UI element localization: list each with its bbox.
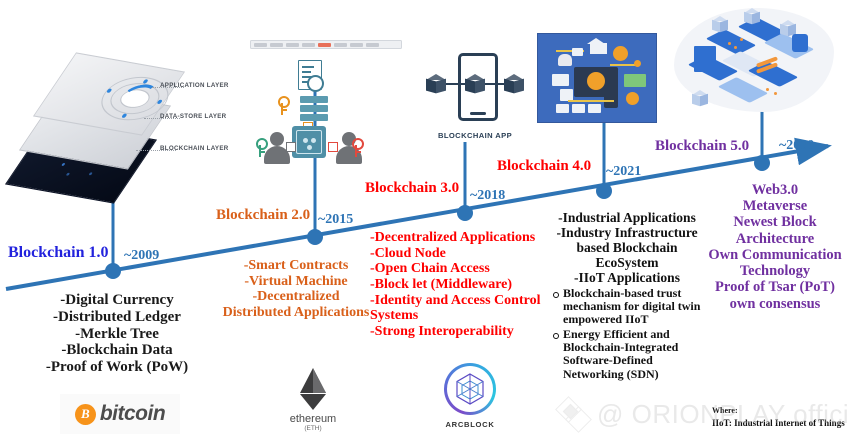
era-bullets-blockchain-2: -Smart Contracts -Virtual Machine -Decen… (222, 258, 370, 321)
list-item: -Decentralized Applications (370, 230, 546, 246)
server-icon (300, 96, 328, 122)
bitcoin-coin-icon: B (75, 404, 96, 425)
vault-icon (292, 126, 326, 158)
list-item: -IIoT Applications (549, 270, 705, 285)
era-title-blockchain-4: Blockchain 4.0 (497, 158, 591, 175)
era4-sub-bullets: Blockchain-based trust mechanism for dig… (549, 287, 705, 381)
timeline-node-2015 (307, 229, 323, 245)
timeline-node-2009 (105, 263, 121, 279)
browser-toolbar-icon (250, 40, 402, 49)
list-item: -Digital Currency (22, 292, 212, 309)
gear-icon (307, 75, 324, 92)
diagram-canvas: APPLICATION LAYER DATA-STORE LAYER BLOCK… (0, 0, 850, 441)
caption-blockchain-layer: BLOCKCHAIN LAYER (160, 145, 229, 152)
bitcoin-logo: B bitcoin (60, 394, 180, 434)
era-title-blockchain-3: Blockchain 3.0 (365, 180, 459, 197)
ethereum-logo: ethereum (ETH) (258, 368, 368, 436)
list-item: -Block let (Middleware) (370, 277, 546, 293)
list-item: -Strong Interoperability (370, 324, 546, 340)
link-square-left (286, 142, 296, 152)
timeline-node-2018 (457, 205, 473, 221)
layered-architecture-illustration: APPLICATION LAYER DATA-STORE LAYER BLOCK… (10, 58, 225, 178)
list-item: Energy Efficient and Blockchain-Integrat… (563, 328, 705, 381)
list-item: Proof of Tsar (PoT) (700, 279, 850, 295)
era-title-blockchain-2: Blockchain 2.0 (216, 207, 310, 224)
list-item: -Smart Contracts (222, 258, 370, 274)
era-year-2018: ~2018 (470, 188, 505, 204)
legend-note: Where: IIoT: Industrial Internet of Thin… (712, 406, 845, 429)
arcblock-ring-icon (444, 363, 496, 415)
era-year-2015: ~2015 (318, 212, 353, 228)
era-bullets-blockchain-1: -Digital Currency -Distributed Ledger -M… (22, 292, 212, 376)
era-bullets-blockchain-4: -Industrial Applications -Industry Infra… (549, 210, 705, 383)
list-item: -Open Chain Access (370, 261, 546, 277)
arcblock-hex-glyph (454, 372, 486, 406)
web3-isometric-illustration (668, 2, 840, 122)
caption-data-store-layer: DATA-STORE LAYER (160, 113, 226, 120)
list-item: -Decentralized Distributed Applications (222, 289, 370, 320)
diamond-logo-icon (556, 397, 590, 431)
list-item: own consensus (700, 296, 850, 312)
timeline-node-2021 (596, 183, 612, 199)
era-title-blockchain-1: Blockchain 1.0 (8, 244, 108, 262)
list-item: -Distributed Ledger (22, 309, 212, 326)
list-item: -Merkle Tree (22, 326, 212, 343)
list-item: -Cloud Node (370, 246, 546, 262)
ethereum-diamond-icon (300, 368, 326, 410)
block-cube-right (504, 74, 524, 94)
ethereum-wordmark: ethereum (258, 413, 368, 425)
era-title-blockchain-5: Blockchain 5.0 (655, 138, 749, 155)
list-item: -Industry Infrastructure based Blockchai… (549, 225, 705, 270)
block-cube-left (426, 74, 446, 94)
list-item: Web3.0 (700, 182, 850, 198)
list-item: -Industrial Applications (549, 210, 705, 225)
blockchain-app-caption: BLOCKCHAIN APP (420, 131, 530, 140)
blockchain-app-illustration: BLOCKCHAIN APP (420, 45, 530, 155)
list-item: -Virtual Machine (222, 274, 370, 290)
era-year-2030: ~2030 (779, 138, 814, 154)
list-item: -Proof of Work (PoW) (22, 359, 212, 376)
link-square-right (328, 142, 338, 152)
contract-document-icon (294, 60, 324, 92)
list-item: -Blockchain Data (22, 342, 212, 359)
list-item: Newest Block Architecture (700, 214, 850, 246)
timeline-node-2030 (754, 155, 770, 171)
arcblock-wordmark: ARCBLOCK (415, 420, 525, 429)
arcblock-logo: ARCBLOCK (415, 363, 525, 437)
legend-note-heading: Where: (712, 406, 845, 417)
smart-contract-illustration (248, 40, 366, 170)
list-item: Blockchain-based trust mechanism for dig… (563, 287, 705, 327)
list-item: -Identity and Access Control Systems (370, 293, 546, 324)
ethereum-ticker: (ETH) (258, 425, 368, 432)
bitcoin-wordmark: bitcoin (100, 402, 165, 426)
industrial-blockchain-illustration (537, 33, 657, 123)
era-bullets-blockchain-5: Web3.0 Metaverse Newest Block Architectu… (700, 182, 850, 312)
list-item: Own Communication Technology (700, 247, 850, 279)
list-item: Metaverse (700, 198, 850, 214)
key-icon-red (352, 138, 364, 150)
era-bullets-blockchain-3: -Decentralized Applications -Cloud Node … (370, 230, 546, 340)
era-year-2009: ~2009 (124, 248, 159, 264)
key-icon-green (256, 138, 268, 150)
era-year-2021: ~2021 (606, 164, 641, 180)
legend-note-text: IIoT: Industrial Internet of Things (712, 417, 845, 429)
block-cube-center (465, 74, 485, 94)
caption-application-layer: APPLICATION LAYER (160, 82, 229, 89)
key-icon-orange (278, 96, 290, 108)
